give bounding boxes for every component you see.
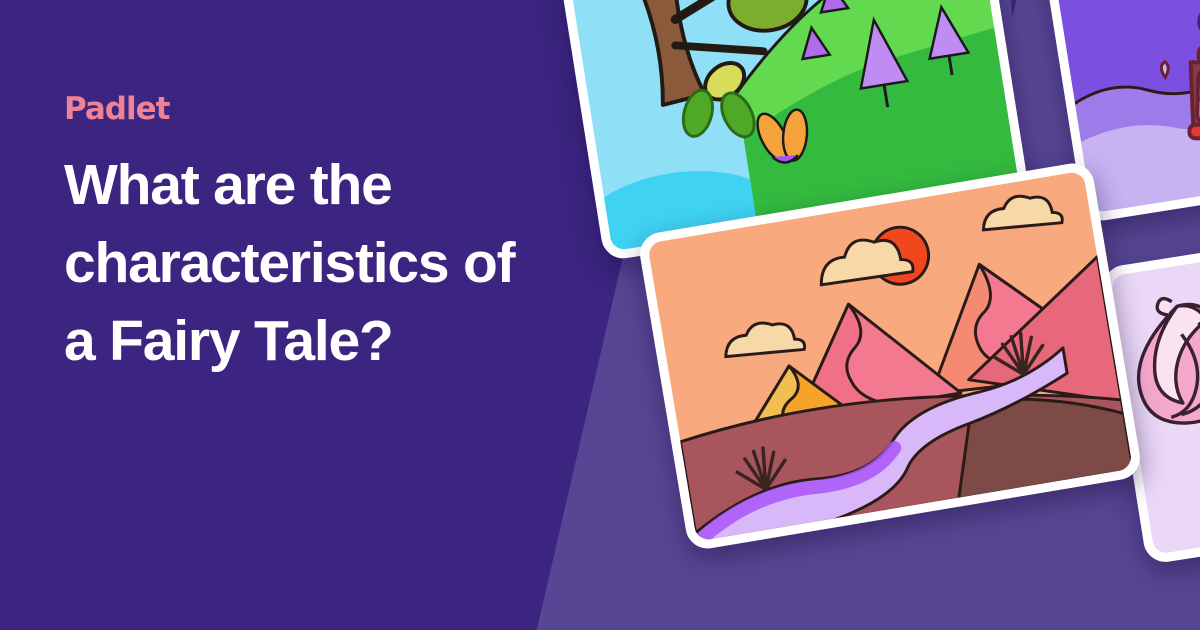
page-title: What are the characteristics of a Fairy …	[64, 146, 584, 380]
desert-mountains-image	[647, 171, 1133, 542]
share-card-canvas: Padlet What are the characteristics of a…	[0, 0, 1200, 630]
padlet-logo[interactable]: Padlet	[64, 94, 169, 125]
